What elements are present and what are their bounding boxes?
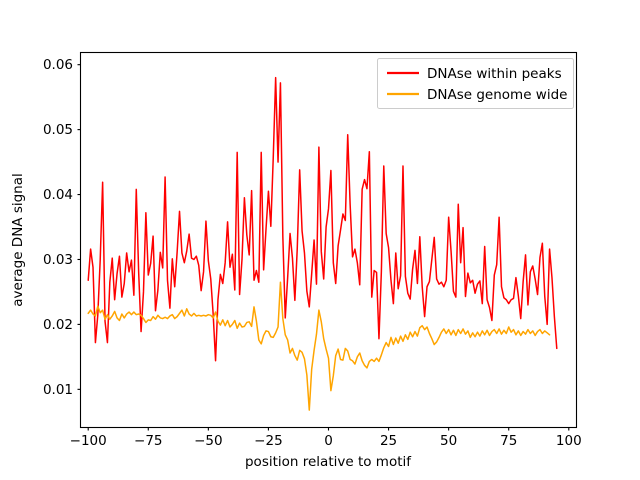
x-tick-label: −25 [254, 433, 283, 449]
x-tick-label: 75 [500, 433, 517, 449]
matplotlib-figure: −100−75−50−250255075100 0.010.020.030.04… [0, 0, 640, 480]
y-tick-label: 0.06 [43, 57, 73, 73]
x-tick-label: 100 [556, 433, 582, 449]
x-tick-label: −50 [194, 433, 223, 449]
y-tick-label: 0.02 [43, 317, 73, 333]
x-tick-label: −75 [134, 433, 163, 449]
legend[interactable]: DNAse within peaksDNAse genome wide [378, 59, 574, 109]
legend-entry-label: DNAse genome wide [427, 87, 567, 103]
x-tick-label: 0 [324, 433, 333, 449]
y-tick-label: 0.04 [43, 187, 73, 203]
y-tick-label: 0.01 [43, 382, 73, 398]
x-tick-label: 50 [440, 433, 457, 449]
y-tick-label: 0.05 [43, 122, 73, 138]
y-axis-label: average DNA signal [10, 173, 26, 307]
x-tick-label: 25 [380, 433, 397, 449]
plot-canvas: −100−75−50−250255075100 0.010.020.030.04… [0, 0, 640, 480]
y-tick-label: 0.03 [43, 252, 73, 268]
x-tick-label: −100 [70, 433, 107, 449]
legend-entry-label: DNAse within peaks [427, 66, 562, 82]
x-axis-label: position relative to motif [245, 454, 412, 470]
